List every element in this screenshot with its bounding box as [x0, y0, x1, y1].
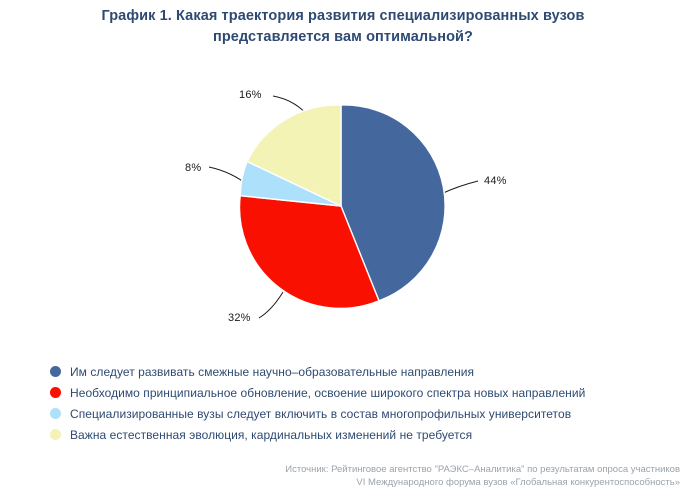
legend-item-lightblue[interactable]: Специализированные вузы следует включить… [48, 403, 668, 424]
legend-item-blue[interactable]: Им следует развивать смежные научно–обра… [48, 361, 668, 382]
source-note-line-1: Источник: Рейтинговое агентство "РАЭКС–А… [40, 463, 680, 476]
legend-item-red[interactable]: Необходимо принципиальное обновление, ос… [48, 382, 668, 403]
pie-value-label-paleyellow: 16% [239, 89, 262, 101]
pie-value-label-lightblue: 8% [185, 162, 201, 174]
legend-item-label: Им следует развивать смежные научно–обра… [70, 365, 474, 379]
pie-value-label-red: 32% [228, 312, 251, 324]
legend-bullet-icon [50, 366, 61, 377]
pie-value-label-blue: 44% [484, 175, 507, 187]
legend-item-paleyellow[interactable]: Важна естественная эволюция, кардинальны… [48, 424, 668, 445]
legend-item-label: Необходимо принципиальное обновление, ос… [70, 386, 585, 400]
chart-canvas: График 1. Какая траектория развития спец… [0, 0, 686, 496]
legend-bullet-icon [50, 429, 61, 440]
legend-item-label: Важна естественная эволюция, кардинальны… [70, 428, 472, 442]
source-note: Источник: Рейтинговое агентство "РАЭКС–А… [40, 463, 680, 489]
legend-item-label: Специализированные вузы следует включить… [70, 407, 571, 421]
leader-line-32 [259, 292, 283, 318]
leader-line-44 [441, 181, 478, 194]
pie-slices [240, 105, 446, 308]
legend-bullet-icon [50, 408, 61, 419]
source-note-line-2: VI Международного форума вузов «Глобальн… [40, 476, 680, 489]
chart-legend: Им следует развивать смежные научно–обра… [48, 361, 668, 445]
legend-bullet-icon [50, 387, 61, 398]
